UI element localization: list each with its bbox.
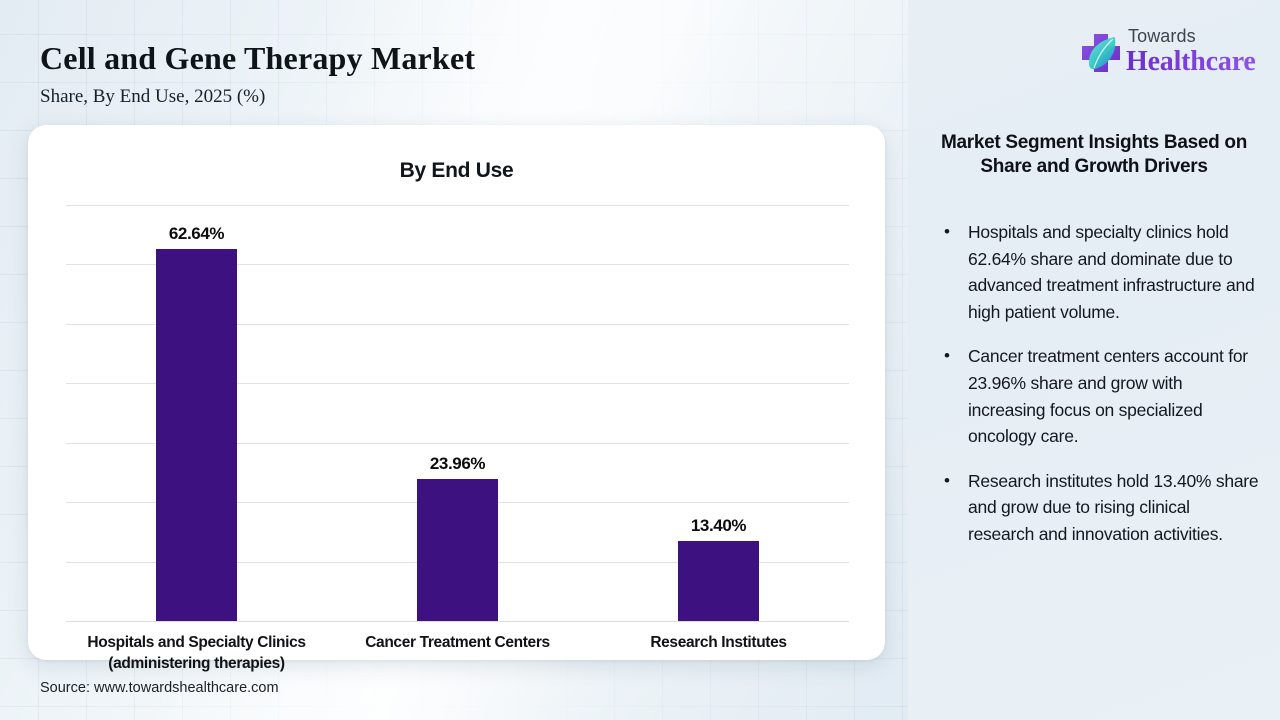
insights-bullet-item: •Hospitals and specialty clinics hold 62… [930, 219, 1260, 325]
chart-title: By End Use [28, 159, 885, 183]
bullet-dot-icon: • [944, 219, 950, 245]
chart-bars: 62.64%Hospitals and Specialty Clinics (a… [66, 205, 849, 622]
chart-category-label: Research Institutes [596, 632, 841, 653]
bullet-dot-icon: • [944, 468, 950, 494]
chart-category-label: Hospitals and Specialty Clinics (adminis… [74, 632, 319, 675]
chart-bar-value-label: 13.40% [618, 516, 819, 536]
insights-panel: Market Segment Insights Based on Share a… [908, 0, 1280, 720]
chart-plot-area: 62.64%Hospitals and Specialty Clinics (a… [66, 205, 849, 622]
page-subtitle: Share, By End Use, 2025 (%) [40, 86, 265, 108]
bullet-dot-icon: • [944, 343, 950, 369]
chart-category-label: Cancer Treatment Centers [335, 632, 580, 653]
chart-bar [678, 541, 759, 621]
insights-bullet-list: •Hospitals and specialty clinics hold 62… [930, 219, 1260, 566]
source-caption: Source: www.towardshealthcare.com [40, 680, 279, 696]
page-title: Cell and Gene Therapy Market [40, 40, 475, 77]
insights-bullet-text: Research institutes hold 13.40% share an… [968, 471, 1258, 544]
chart-bar [156, 249, 237, 621]
chart-card: By End Use 62.64%Hospitals and Specialty… [28, 125, 885, 660]
insights-bullet-text: Cancer treatment centers account for 23.… [968, 346, 1248, 446]
chart-bar-value-label: 23.96% [357, 454, 558, 474]
insights-bullet-item: •Research institutes hold 13.40% share a… [930, 468, 1260, 548]
insights-bullet-item: •Cancer treatment centers account for 23… [930, 343, 1260, 449]
chart-bar-value-label: 62.64% [96, 224, 297, 244]
chart-bar [417, 479, 498, 621]
insights-heading: Market Segment Insights Based on Share a… [932, 131, 1256, 180]
insights-bullet-text: Hospitals and specialty clinics hold 62.… [968, 222, 1254, 322]
infographic-slide: Cell and Gene Therapy Market Share, By E… [0, 0, 1280, 720]
